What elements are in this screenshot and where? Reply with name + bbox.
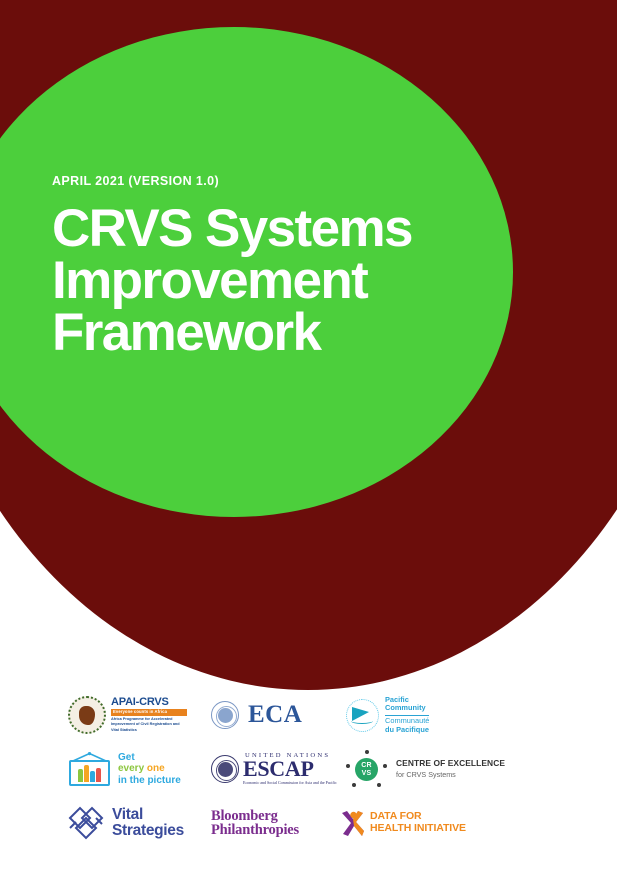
title-block: APRIL 2021 (VERSION 1.0) CRVS Systems Im… <box>52 175 492 359</box>
logo-apai-crvs: APAI-CRVS Everyone counts in Africa Afri… <box>68 696 211 734</box>
geotp-line-1: Get <box>118 752 181 763</box>
bloomberg-line-1: Bloomberg <box>211 809 299 824</box>
apai-crvs-subtitle: Africa Programme for Accelerated Improve… <box>111 717 187 732</box>
crvs-mark-line-1: CR <box>361 762 372 770</box>
starburst-dot-icon <box>365 750 369 754</box>
figure-orange-icon <box>84 765 89 782</box>
starburst-dot-icon <box>383 764 387 768</box>
vital-strategies-line-2: Strategies <box>112 823 184 839</box>
picture-frame-icon <box>68 752 111 786</box>
figure-red-icon <box>96 768 101 782</box>
bloomberg-line-2: Philanthropies <box>211 823 299 838</box>
logo-pacific-community: Pacific Community Communauté du Pacifiqu… <box>346 696 526 735</box>
pacific-en-line-2: Community <box>385 704 429 713</box>
data-for-health-text: DATA FOR HEALTH INITIATIVE <box>370 811 466 835</box>
logo-bloomberg-philanthropies: Bloomberg Philanthropies <box>211 809 336 838</box>
title-line-2: Improvement <box>52 255 492 307</box>
centre-of-excellence-title: CENTRE OF EXCELLENCE <box>396 759 505 768</box>
wave-shape-icon <box>351 718 373 724</box>
crvs-mark-line-2: VS <box>362 770 372 778</box>
vital-strategies-line-1: Vital <box>112 807 184 823</box>
crvs-disc-icon: CR VS <box>355 758 378 781</box>
logo-row-1: APAI-CRVS Everyone counts in Africa Afri… <box>0 688 617 742</box>
starburst-dot-icon <box>352 783 356 787</box>
escap-wordmark: ESCAP <box>243 759 337 779</box>
escap-subtitle: Economic and Social Commission for Asia … <box>243 781 337 786</box>
page-title: CRVS Systems Improvement Framework <box>52 203 492 359</box>
crvs-starburst-icon: CR VS <box>346 750 388 788</box>
logo-row-3: Vital Strategies Bloomberg Philanthropie… <box>0 796 617 850</box>
logo-uneca: ECA <box>211 701 346 729</box>
centre-of-excellence-subtitle: for CRVS Systems <box>396 771 505 779</box>
vital-strategies-text: Vital Strategies <box>112 807 184 839</box>
get-every-one-text: Get every one in the picture <box>118 752 181 786</box>
title-line-1: CRVS Systems <box>52 203 492 255</box>
apai-crvs-name: APAI-CRVS <box>111 697 187 708</box>
eca-wordmark: ECA <box>248 701 302 729</box>
frame-box-icon <box>69 760 110 786</box>
geotp-line-2b: one <box>147 763 165 774</box>
d4h-line-2: HEALTH INITIATIVE <box>370 823 466 835</box>
cover-page: APRIL 2021 (VERSION 1.0) CRVS Systems Im… <box>0 0 617 877</box>
figure-green-icon <box>78 769 83 782</box>
apai-crvs-tagline: Everyone counts in Africa <box>111 709 187 716</box>
figure-blue-icon <box>90 771 95 782</box>
starburst-dot-icon <box>377 783 381 787</box>
logo-row-2: Get every one in the picture UNITED NATI… <box>0 742 617 796</box>
geotp-line-3: in the picture <box>118 775 181 786</box>
pacific-community-text: Pacific Community Communauté du Pacifiqu… <box>385 696 429 735</box>
publication-date: APRIL 2021 (VERSION 1.0) <box>52 175 492 189</box>
data-for-health-person-icon <box>340 810 365 837</box>
title-line-3: Framework <box>52 307 492 359</box>
escap-text: UNITED NATIONS ESCAP Economic and Social… <box>243 753 337 786</box>
logo-get-every-one-in-the-picture: Get every one in the picture <box>68 752 211 786</box>
logo-un-escap: UNITED NATIONS ESCAP Economic and Social… <box>211 753 346 786</box>
africa-emblem-icon <box>68 696 106 734</box>
pacific-sail-icon <box>346 699 379 732</box>
vital-strategies-weave-icon <box>68 806 104 840</box>
pacific-fr-line-2: du Pacifique <box>385 726 429 735</box>
united-nations-emblem-icon <box>211 701 239 729</box>
africa-continent-icon <box>79 706 95 725</box>
logo-data-for-health-initiative: DATA FOR HEALTH INITIATIVE <box>336 810 466 837</box>
apai-crvs-text: APAI-CRVS Everyone counts in Africa Afri… <box>111 697 187 732</box>
centre-of-excellence-text: CENTRE OF EXCELLENCE for CRVS Systems <box>396 759 505 778</box>
logo-vital-strategies: Vital Strategies <box>68 806 211 840</box>
bloomberg-philanthropies-text: Bloomberg Philanthropies <box>211 809 299 838</box>
united-nations-emblem-icon <box>211 755 239 783</box>
partner-logos: APAI-CRVS Everyone counts in Africa Afri… <box>0 688 617 850</box>
logo-centre-of-excellence: CR VS CENTRE OF EXCELLENCE for CRVS Syst… <box>346 750 526 788</box>
geotp-line-2: every one <box>118 763 181 774</box>
geotp-line-2a: every <box>118 763 144 774</box>
starburst-dot-icon <box>346 764 350 768</box>
